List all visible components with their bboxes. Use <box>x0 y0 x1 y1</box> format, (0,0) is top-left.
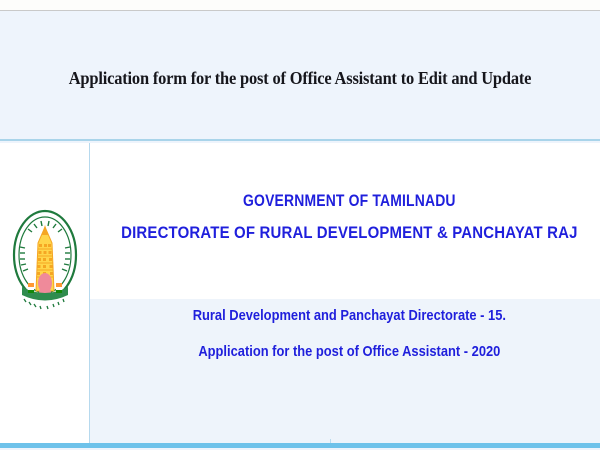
page-title: Application form for the post of Office … <box>18 68 582 89</box>
bottom-blue-band <box>0 443 600 448</box>
heading-cell: GOVERNMENT OF TAMILNADU DIRECTORATE OF R… <box>90 143 600 445</box>
tamilnadu-state-emblem-icon <box>8 203 82 313</box>
header-table: GOVERNMENT OF TAMILNADU DIRECTORATE OF R… <box>0 139 600 443</box>
subheading-line-2: Application for the post of Office Assis… <box>126 343 572 360</box>
page-root: Application form for the post of Office … <box>0 0 600 450</box>
subheading-line-1: Rural Development and Panchayat Director… <box>126 307 572 324</box>
header-table-row: GOVERNMENT OF TAMILNADU DIRECTORATE OF R… <box>0 143 600 445</box>
emblem-cell <box>0 143 90 445</box>
government-heading-line-2: DIRECTORATE OF RURAL DEVELOPMENT & PANCH… <box>121 223 577 243</box>
top-white-strip <box>0 0 600 11</box>
government-heading-line-1: GOVERNMENT OF TAMILNADU <box>137 191 562 211</box>
